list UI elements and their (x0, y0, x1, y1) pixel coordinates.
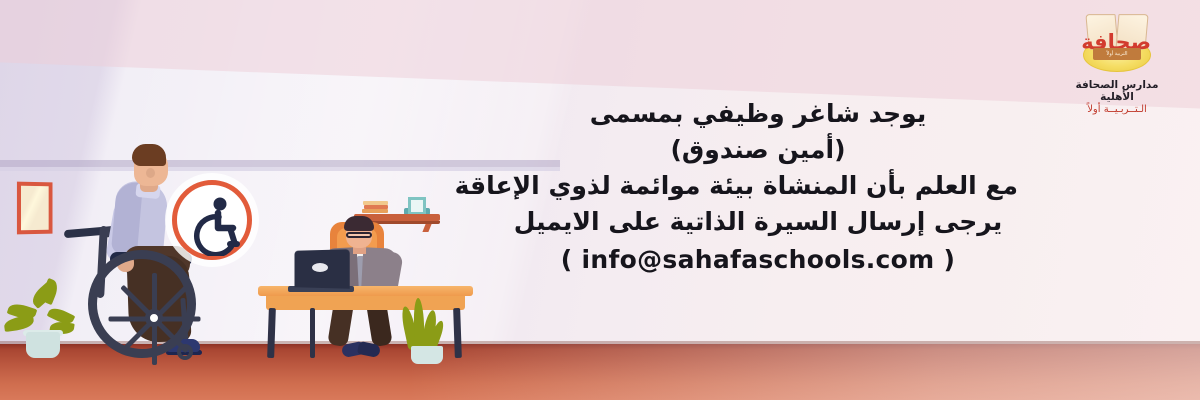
logo-ribbon-text: التربية أولاً (1093, 48, 1141, 60)
person-hair (132, 144, 166, 166)
job-vacancy-banner: يوجد شاغر وظيفي بمسمى (أمين صندوق) مع ال… (0, 0, 1200, 400)
person-ear (146, 168, 155, 178)
wheel-hub (145, 309, 163, 327)
announcement-line-1: يوجد شاغر وظيفي بمسمى (498, 96, 1018, 132)
desk-leg (267, 308, 276, 358)
announcement-text: يوجد شاغر وظيفي بمسمى (أمين صندوق) مع ال… (498, 96, 1018, 278)
announcement-line-3: مع العلم بأن المنشاة بيئة موائمة لذوي ال… (498, 168, 1018, 204)
worker-hair (344, 216, 374, 231)
announcement-line-4: يرجى إرسال السيرة الذاتية على الايميل (498, 204, 1018, 240)
school-logo: صحافة التربية أولاً مدارس الصحافة الأهلي… (1058, 8, 1176, 116)
desk-leg (310, 308, 315, 358)
laptop-logo (312, 263, 328, 272)
glasses-icon (346, 232, 372, 238)
wheelchair-wheel (88, 250, 196, 358)
potted-plant-right (398, 290, 454, 364)
wheelchair-caster-wheel (177, 344, 193, 360)
wheelchair-accessible-icon (172, 180, 252, 260)
announcement-email[interactable]: ( info@sahafaschools.com ) (498, 242, 1018, 278)
framed-picture (17, 182, 53, 235)
plant-pot (26, 332, 60, 358)
frame-glass-sheen (21, 186, 49, 231)
announcement-line-2: (أمين صندوق) (498, 132, 1018, 168)
desk-leg (453, 308, 462, 358)
logo-school-name: مدارس الصحافة الأهلية (1058, 79, 1176, 103)
logo-mark-icon: صحافة التربية أولاً (1079, 8, 1155, 76)
plant-pot (411, 346, 443, 364)
logo-tagline: الـتــربـيــة أولاً (1058, 104, 1176, 115)
